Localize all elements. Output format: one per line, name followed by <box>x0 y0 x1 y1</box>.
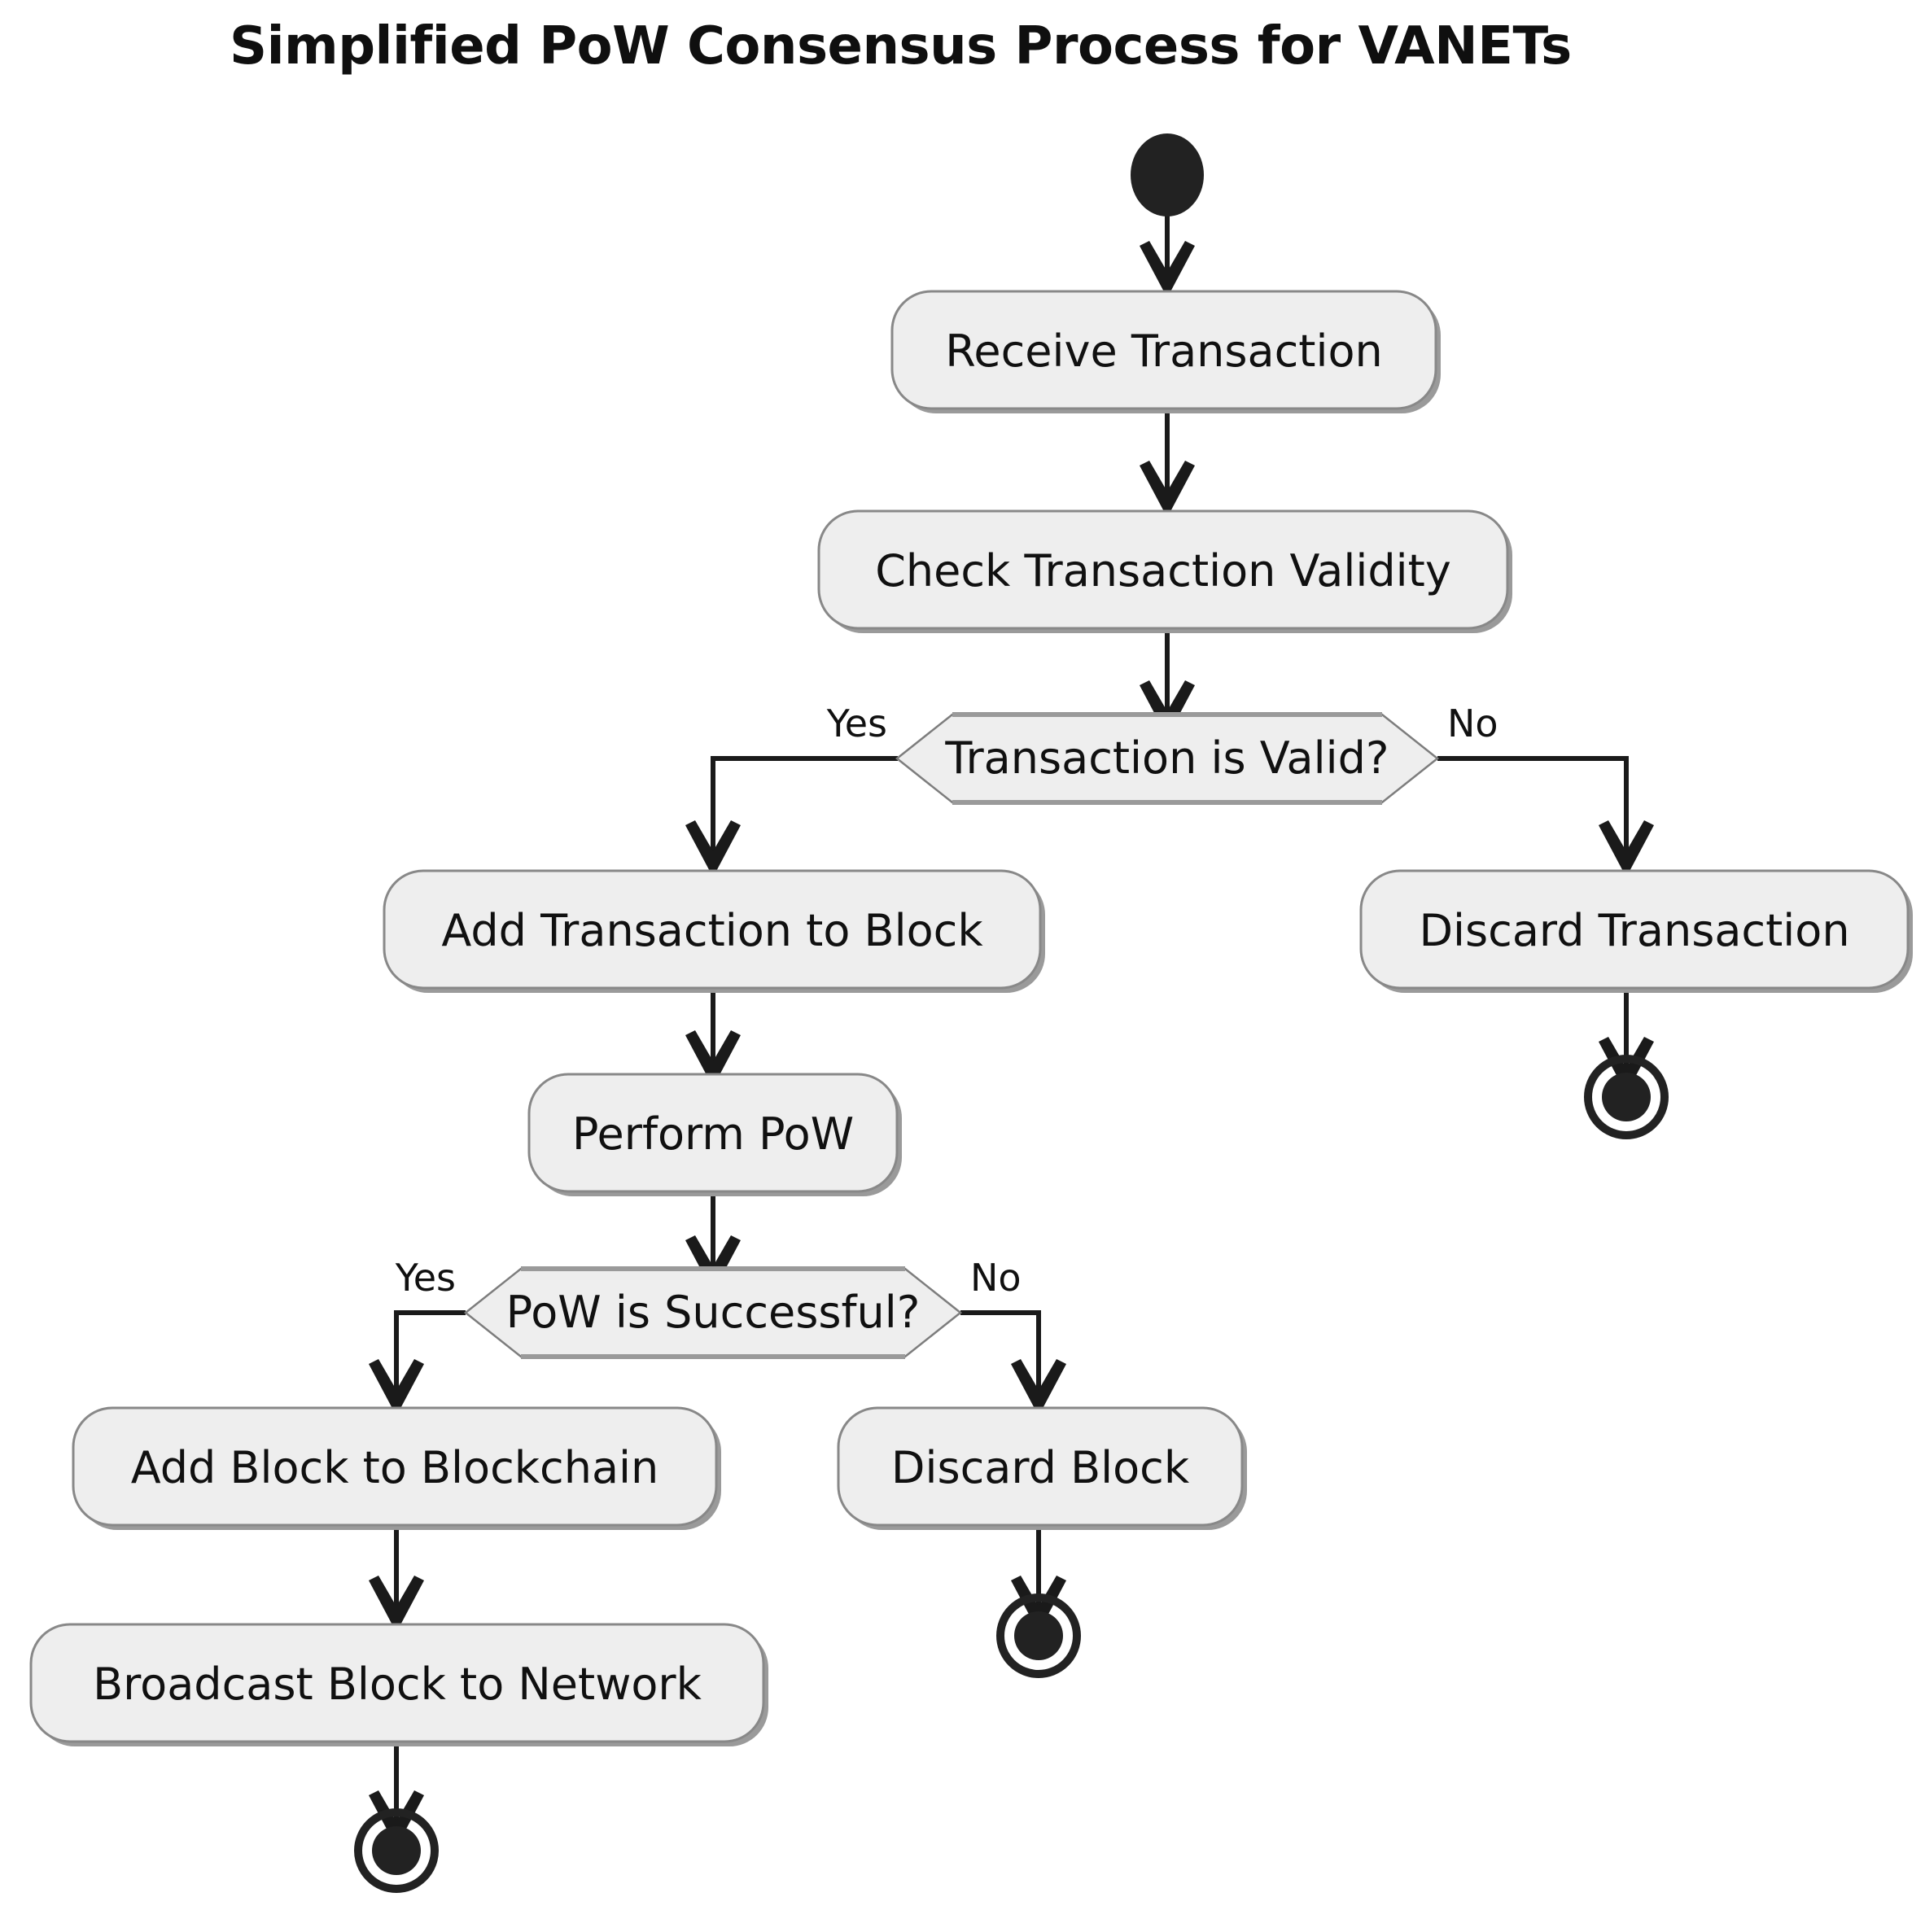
activity-label: Broadcast Block to Network <box>93 1659 702 1710</box>
start-node <box>1131 133 1204 216</box>
branch-label-pow-yes: Yes <box>395 1256 456 1300</box>
activity-label: Add Transaction to Block <box>441 905 983 956</box>
activity-diagram-canvas: Simplified PoW Consensus Process for VAN… <box>0 0 1925 1932</box>
edge-add-block-to-broadcast <box>369 1523 424 1633</box>
edge-add-transaction-to-perform-pow <box>685 986 741 1087</box>
activity-label: Discard Block <box>891 1442 1190 1493</box>
edge-decision-valid-yes <box>685 758 898 877</box>
activity-add-block-to-blockchain[interactable]: Add Block to Blockchain <box>73 1408 721 1530</box>
decision-pow-is-successful[interactable]: PoW is Successful? <box>466 1269 960 1357</box>
decision-label: PoW is Successful? <box>506 1287 921 1338</box>
page-title: Simplified PoW Consensus Process for VAN… <box>230 16 1572 76</box>
activity-check-transaction-validity[interactable]: Check Transaction Validity <box>819 511 1512 633</box>
activity-perform-pow[interactable]: Perform PoW <box>529 1074 902 1196</box>
branch-label-valid-yes: Yes <box>826 702 887 745</box>
activity-label: Perform PoW <box>572 1108 854 1160</box>
decision-label: Transaction is Valid? <box>944 732 1389 784</box>
edge-decision-pow-yes <box>369 1313 466 1416</box>
activity-discard-transaction[interactable]: Discard Transaction <box>1361 871 1913 993</box>
activity-discard-block[interactable]: Discard Block <box>838 1408 1247 1530</box>
activity-label: Add Block to Blockchain <box>131 1442 659 1493</box>
branch-label-pow-no: No <box>970 1256 1022 1300</box>
branch-label-valid-no: No <box>1447 702 1498 745</box>
edge-receive-to-check-validity <box>1140 407 1195 518</box>
activity-add-transaction-to-block[interactable]: Add Transaction to Block <box>384 871 1045 993</box>
edge-decision-valid-no <box>1437 758 1654 877</box>
activity-label: Discard Transaction <box>1419 905 1849 956</box>
activity-receive-transaction[interactable]: Receive Transaction <box>892 291 1441 413</box>
activity-label: Receive Transaction <box>945 326 1383 377</box>
activity-broadcast-block-to-network[interactable]: Broadcast Block to Network <box>31 1624 768 1746</box>
decision-transaction-is-valid[interactable]: Transaction is Valid? <box>897 715 1437 802</box>
edge-decision-pow-no <box>960 1313 1066 1416</box>
flowchart-svg: Simplified PoW Consensus Process for VAN… <box>0 0 1925 1932</box>
activity-label: Check Transaction Validity <box>875 545 1451 597</box>
